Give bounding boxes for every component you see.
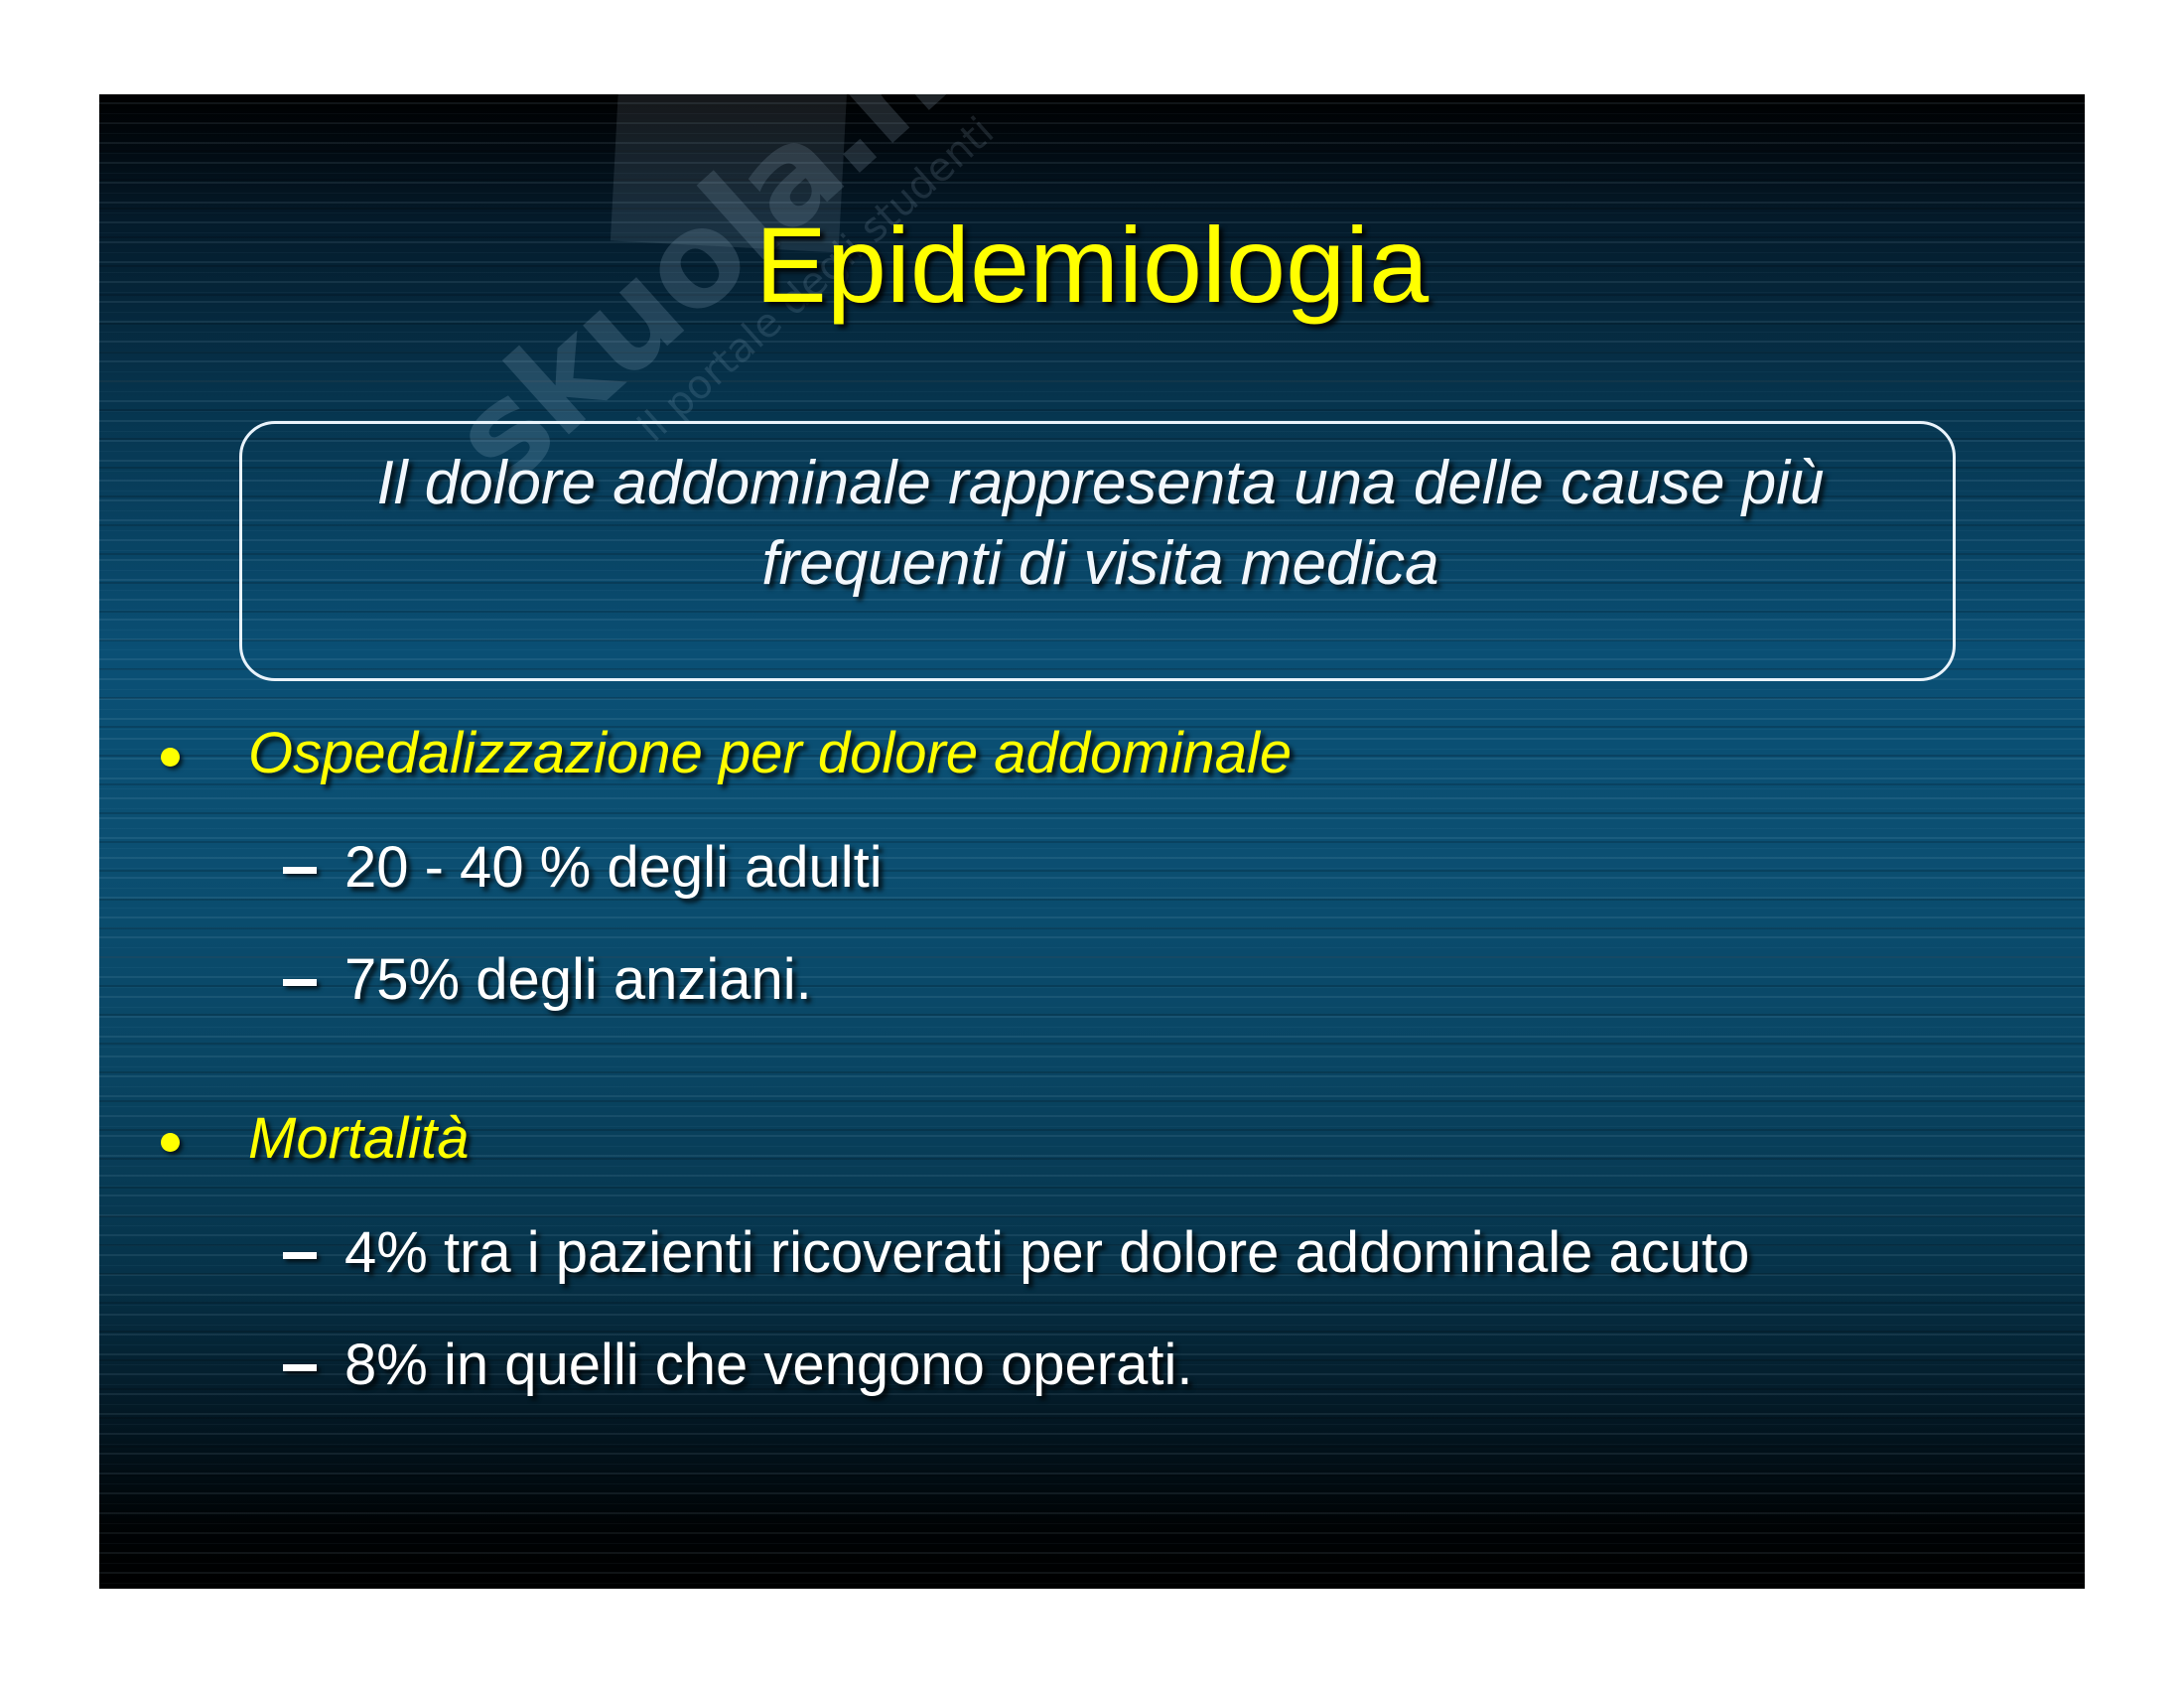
bullet-level2-operati: 8% in quelli che vengono operati. <box>99 1331 2085 1401</box>
callout-box: Il dolore addominale rappresenta una del… <box>239 421 1956 681</box>
bullet-level2-anziani: 75% degli anziani. <box>99 945 2085 1016</box>
dash-icon <box>283 1252 317 1259</box>
bullet-level1-label: Ospedalizzazione per dolore addominale <box>248 721 1292 785</box>
spacer <box>99 917 2085 945</box>
bullet-level2-label: 8% in quelli che vengono operati. <box>344 1333 1192 1397</box>
dash-icon <box>283 979 317 986</box>
spacer <box>99 805 2085 833</box>
bullet-level1-label: Mortalità <box>248 1106 469 1171</box>
page-canvas: skuola.net il portale degli studenti Epi… <box>0 0 2184 1688</box>
slide-body: Ospedalizzazione per dolore addominale 2… <box>99 720 2085 1415</box>
bullet-level1-mortalita: Mortalità <box>99 1105 2085 1173</box>
bullet-level2-ricoverati: 4% tra i pazienti ricoverati per dolore … <box>99 1218 2085 1289</box>
bullet-group-ospedalizzazione: Ospedalizzazione per dolore addominale 2… <box>99 720 2085 1016</box>
spacer <box>99 1303 2085 1331</box>
bullet-level2-label: 75% degli anziani. <box>344 947 812 1012</box>
bullet-group-mortalita: Mortalità 4% tra i pazienti ricoverati p… <box>99 1105 2085 1401</box>
bullet-dot-icon <box>161 748 180 767</box>
presentation-slide: skuola.net il portale degli studenti Epi… <box>99 94 2085 1589</box>
bullet-level1-ospedalizzazione: Ospedalizzazione per dolore addominale <box>99 720 2085 787</box>
bullet-dot-icon <box>161 1133 180 1152</box>
callout-text: Il dolore addominale rappresenta una del… <box>266 444 1935 604</box>
bullet-level2-label: 20 - 40 % degli adulti <box>344 835 883 900</box>
dash-icon <box>283 1364 317 1371</box>
dash-icon <box>283 867 317 874</box>
bullet-level2-label: 4% tra i pazienti ricoverati per dolore … <box>344 1220 1749 1285</box>
bullet-level2-adulti: 20 - 40 % degli adulti <box>99 833 2085 904</box>
slide-title: Epidemiologia <box>99 209 2085 321</box>
spacer-between-groups <box>99 1030 2085 1105</box>
spacer <box>99 1191 2085 1218</box>
